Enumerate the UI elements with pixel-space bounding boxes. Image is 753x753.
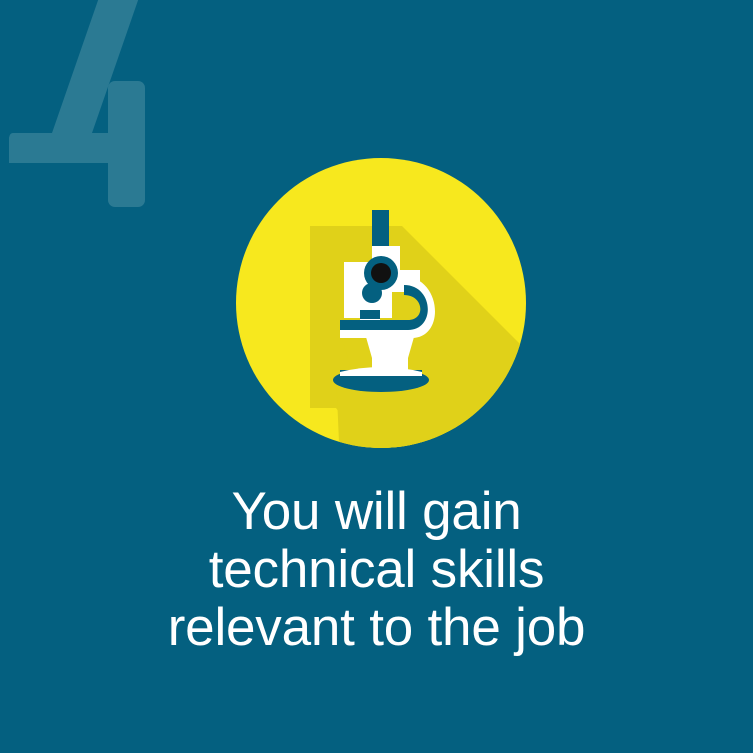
caption-line-3: relevant to the job <box>0 599 753 657</box>
infographic-card: You will gain technical skills relevant … <box>0 0 753 753</box>
icon-badge <box>236 158 526 448</box>
step-number-4-shape <box>0 0 200 230</box>
caption-line-2: technical skills <box>0 541 753 599</box>
caption-line-1: You will gain <box>0 483 753 541</box>
numeral-stem <box>108 81 145 207</box>
microscope-slide <box>360 310 380 319</box>
numeral-diagonal <box>9 0 152 163</box>
microscope-lens-center <box>371 263 391 283</box>
caption-text: You will gain technical skills relevant … <box>0 483 753 657</box>
microscope-eyepiece <box>372 210 389 248</box>
microscope-focus-knob <box>362 283 382 303</box>
microscope-badge-graphic <box>236 158 526 448</box>
step-number-watermark <box>0 0 200 230</box>
numeral-crossbar <box>20 133 145 163</box>
numeral-crossbar-cap <box>9 133 49 163</box>
